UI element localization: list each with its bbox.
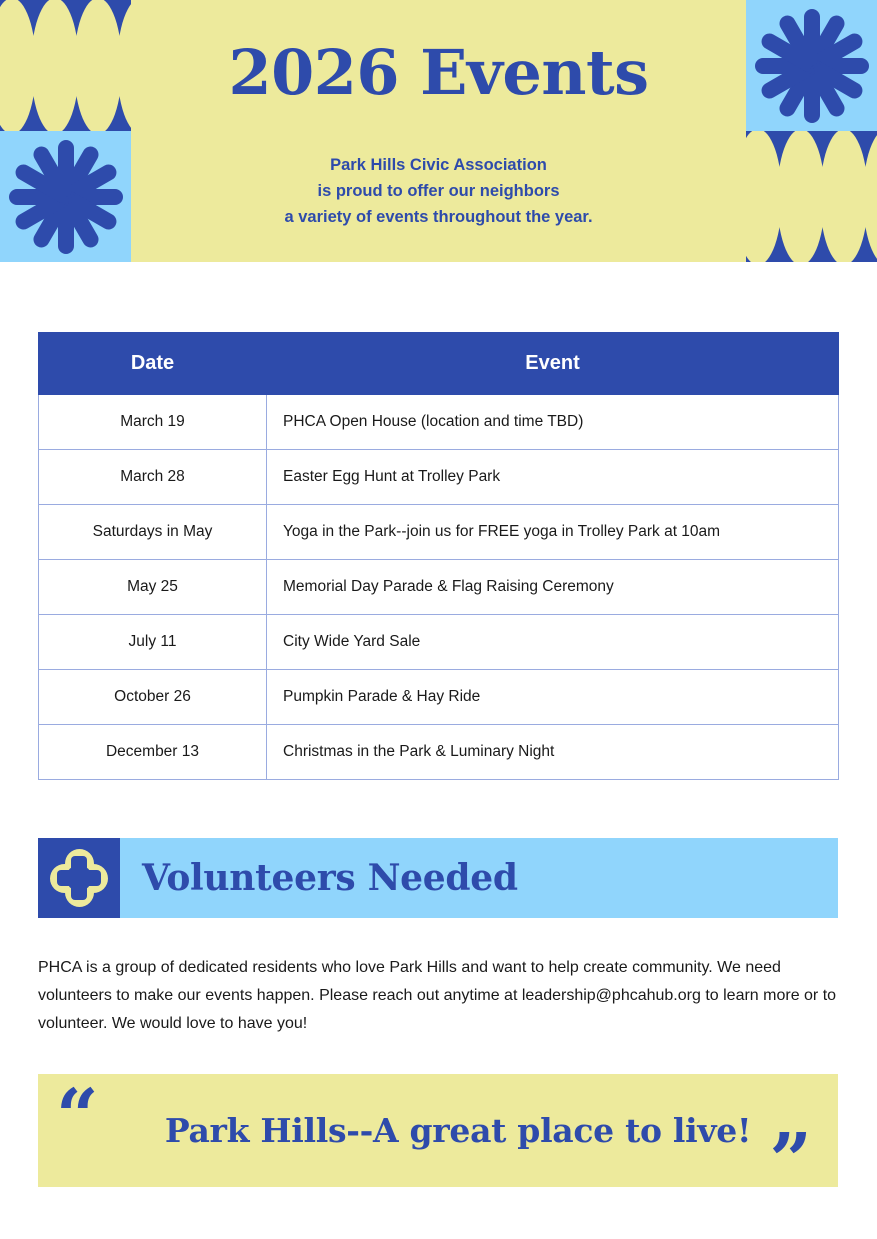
quote-close-icon: ” xyxy=(769,1124,812,1198)
cell-event: Easter Egg Hunt at Trolley Park xyxy=(267,450,839,505)
header-subtitle: Park Hills Civic Association is proud to… xyxy=(131,152,746,230)
quote-open-icon: “ xyxy=(56,1080,99,1154)
table-row: Saturdays in May Yoga in the Park--join … xyxy=(39,505,839,560)
table-row: March 19 PHCA Open House (location and t… xyxy=(39,395,839,450)
page-header: 2026 Events Park Hills Civic Association… xyxy=(0,0,877,262)
cell-event: Memorial Day Parade & Flag Raising Cerem… xyxy=(267,560,839,615)
table-row: October 26 Pumpkin Parade & Hay Ride xyxy=(39,670,839,725)
table-row: December 13 Christmas in the Park & Lumi… xyxy=(39,725,839,780)
column-header-date: Date xyxy=(39,333,267,395)
cell-date: October 26 xyxy=(39,670,267,725)
header-decoration-left xyxy=(0,0,131,262)
header-subtitle-line-3: a variety of events throughout the year. xyxy=(131,204,746,230)
clover-flower-icon xyxy=(38,838,120,918)
table-body: March 19 PHCA Open House (location and t… xyxy=(39,395,839,780)
cell-event: Christmas in the Park & Luminary Night xyxy=(267,725,839,780)
header-subtitle-line-2: is proud to offer our neighbors xyxy=(131,178,746,204)
table-row: March 28 Easter Egg Hunt at Trolley Park xyxy=(39,450,839,505)
quote-block: “ Park Hills--A great place to live! ” xyxy=(38,1074,838,1187)
starburst-icon xyxy=(0,131,131,262)
lens-pattern-icon xyxy=(0,0,131,131)
cell-event: City Wide Yard Sale xyxy=(267,615,839,670)
cell-date: December 13 xyxy=(39,725,267,780)
lens-pattern-icon xyxy=(746,131,877,262)
cell-date: May 25 xyxy=(39,560,267,615)
volunteers-paragraph: PHCA is a group of dedicated residents w… xyxy=(38,954,838,1038)
events-table: Date Event March 19 PHCA Open House (loc… xyxy=(38,332,839,780)
quote-text: Park Hills--A great place to live! xyxy=(148,1074,768,1187)
page-title: 2026 Events xyxy=(131,42,746,104)
cell-event: PHCA Open House (location and time TBD) xyxy=(267,395,839,450)
volunteers-heading: Volunteers Needed xyxy=(142,857,518,899)
volunteers-banner: Volunteers Needed xyxy=(38,838,838,918)
cell-date: March 28 xyxy=(39,450,267,505)
cell-date: March 19 xyxy=(39,395,267,450)
cell-date: July 11 xyxy=(39,615,267,670)
column-header-event: Event xyxy=(267,333,839,395)
table-header: Date Event xyxy=(39,333,839,395)
cell-date: Saturdays in May xyxy=(39,505,267,560)
starburst-icon xyxy=(746,0,877,131)
table-row: May 25 Memorial Day Parade & Flag Raisin… xyxy=(39,560,839,615)
cell-event: Pumpkin Parade & Hay Ride xyxy=(267,670,839,725)
header-decoration-right xyxy=(746,0,877,262)
cell-event: Yoga in the Park--join us for FREE yoga … xyxy=(267,505,839,560)
table-header-row: Date Event xyxy=(39,333,839,395)
header-subtitle-line-1: Park Hills Civic Association xyxy=(131,152,746,178)
table-row: July 11 City Wide Yard Sale xyxy=(39,615,839,670)
